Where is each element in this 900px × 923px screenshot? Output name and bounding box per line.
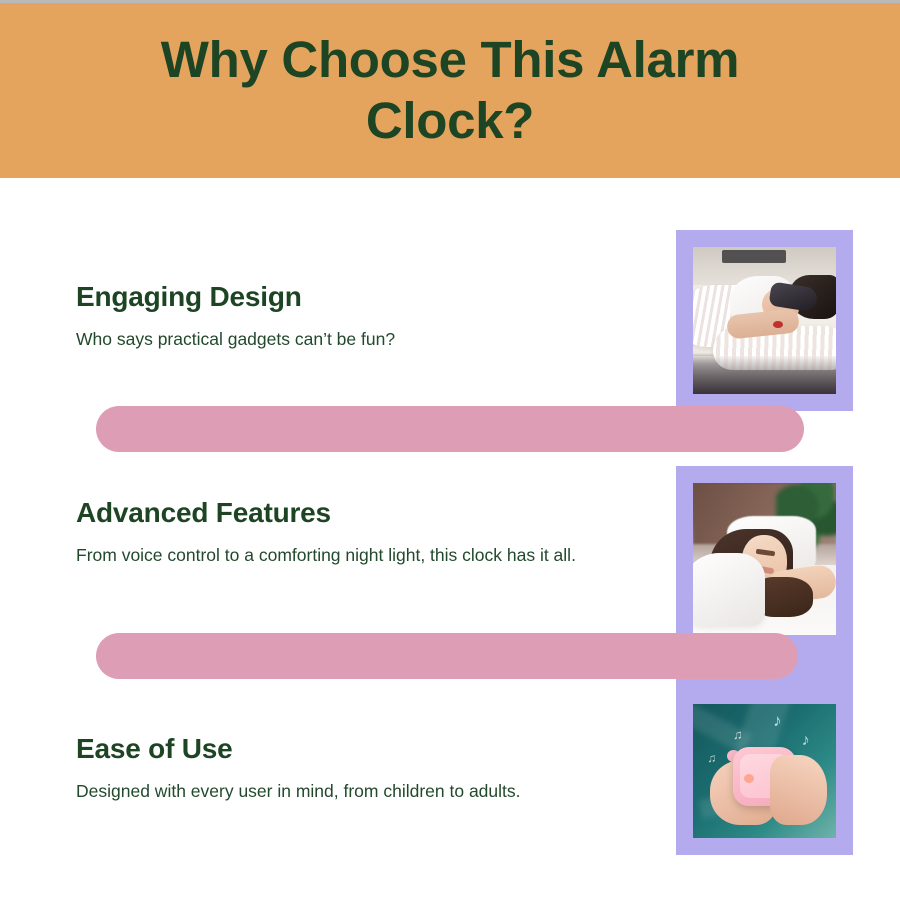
header-banner: Why Choose This Alarm Clock?: [0, 3, 900, 178]
feature-title: Advanced Features: [76, 496, 646, 530]
divider-bar-1: [96, 406, 804, 452]
music-note-icon: ♪: [773, 712, 782, 729]
photo-pink-alarm-clock: ♪ ♫ ♪ ♫ ♪ ♫: [693, 704, 836, 838]
page-title: Why Choose This Alarm Clock?: [100, 30, 800, 150]
feature-title: Engaging Design: [76, 280, 646, 314]
photo-nail: [773, 321, 783, 328]
feature-advanced-features: Advanced Features From voice control to …: [76, 496, 646, 569]
photo-frame-ease-of-use: ♪ ♫ ♪ ♫ ♪ ♫: [676, 687, 853, 855]
music-note-icon: ♫: [707, 752, 716, 764]
photo-sleep-mask: [693, 247, 836, 394]
feature-body: Designed with every user in mind, from c…: [76, 778, 646, 805]
photo-dark-accent: [722, 250, 786, 263]
divider-bar-2: [96, 633, 798, 679]
photo-pillow-front: [693, 553, 765, 626]
photo-reflection: [693, 356, 836, 394]
feature-body: From voice control to a comforting night…: [76, 542, 646, 569]
content-area: ♪ ♫ ♪ ♫ ♪ ♫ Engaging Design Who says: [0, 178, 900, 923]
photo-hand-right: [770, 755, 827, 825]
infographic-page: Why Choose This Alarm Clock?: [0, 0, 900, 923]
photo-frame-engaging-design: [676, 230, 853, 411]
photo-woman-asleep: [693, 483, 836, 635]
feature-ease-of-use: Ease of Use Designed with every user in …: [76, 732, 646, 805]
music-note-icon: ♫: [733, 728, 743, 741]
music-note-icon: ♪: [802, 733, 810, 749]
feature-engaging-design: Engaging Design Who says practical gadge…: [76, 280, 646, 353]
feature-title: Ease of Use: [76, 732, 646, 766]
feature-body: Who says practical gadgets can’t be fun?: [76, 326, 646, 353]
